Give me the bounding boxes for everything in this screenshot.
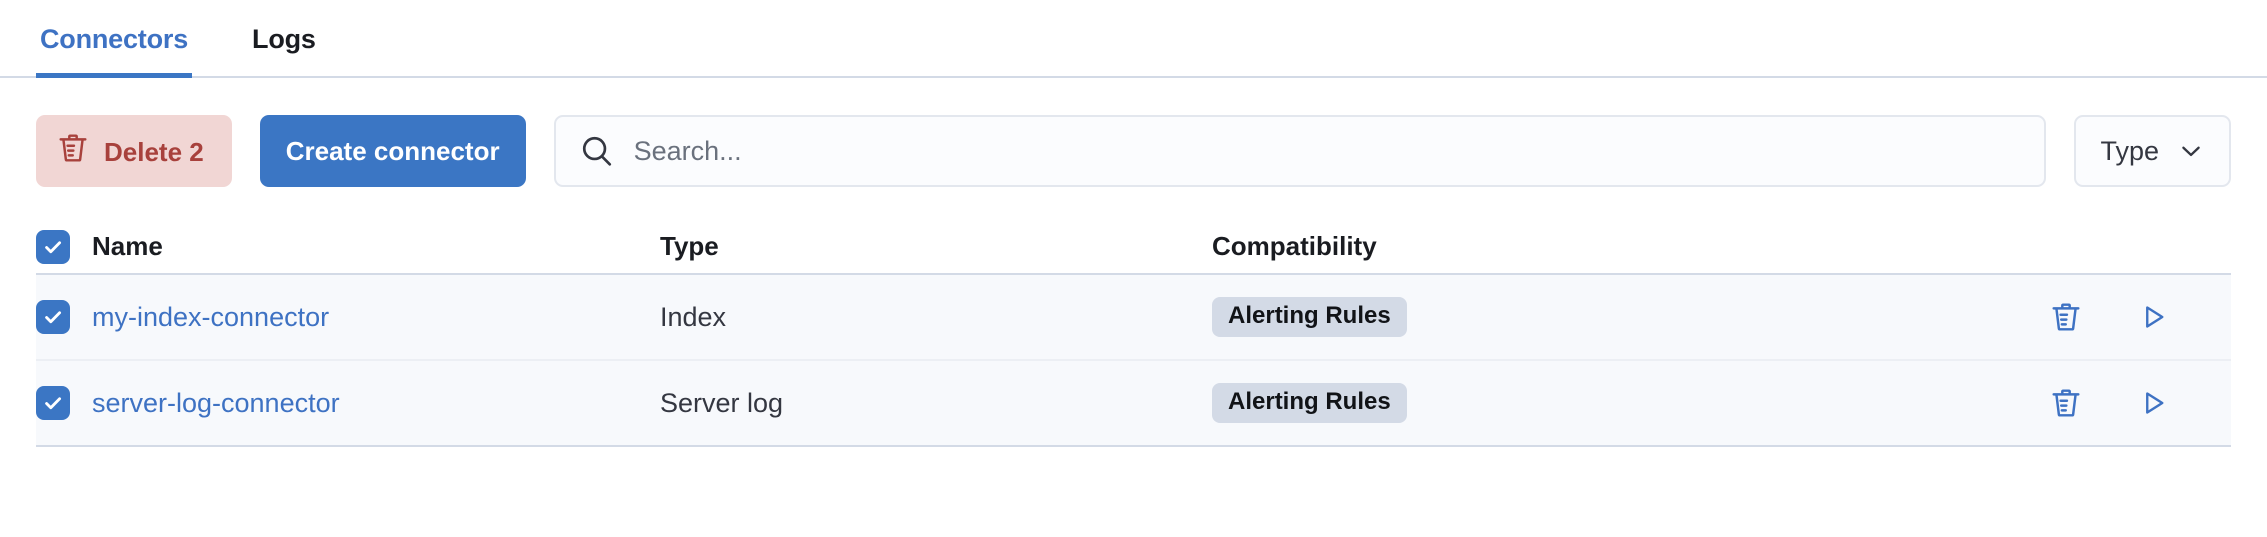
table-header-row: Name Type Compatibility bbox=[36, 220, 2231, 275]
table-row[interactable]: server-log-connector Server log Alerting… bbox=[36, 361, 2231, 447]
tab-connectors[interactable]: Connectors bbox=[36, 0, 192, 78]
table-row[interactable]: my-index-connector Index Alerting Rules bbox=[36, 275, 2231, 361]
type-filter-label: Type bbox=[2100, 136, 2159, 167]
status-badge: Alerting Rules bbox=[1212, 383, 1407, 423]
tab-connectors-label: Connectors bbox=[40, 24, 188, 55]
row-delete-button[interactable] bbox=[2051, 301, 2081, 333]
row-type-cell: Index bbox=[660, 302, 1212, 333]
row-compatibility-cell: Alerting Rules bbox=[1212, 297, 2035, 337]
row-select-cell bbox=[36, 300, 92, 334]
search-icon bbox=[580, 134, 614, 168]
tab-logs-label: Logs bbox=[252, 24, 316, 55]
create-connector-button[interactable]: Create connector bbox=[260, 115, 526, 187]
column-header-type[interactable]: Type bbox=[660, 231, 1212, 262]
tab-logs[interactable]: Logs bbox=[248, 0, 320, 78]
row-name-cell: server-log-connector bbox=[92, 388, 660, 419]
row-name-cell: my-index-connector bbox=[92, 302, 660, 333]
chevron-down-icon bbox=[2177, 137, 2205, 165]
row-actions-cell bbox=[2035, 387, 2231, 419]
row-type-cell: Server log bbox=[660, 388, 1212, 419]
tab-bar: Connectors Logs bbox=[0, 0, 2267, 78]
connectors-table: Name Type Compatibility my-index-connect… bbox=[0, 220, 2267, 447]
type-filter-dropdown[interactable]: Type bbox=[2074, 115, 2231, 187]
delete-button[interactable]: Delete 2 bbox=[36, 115, 232, 187]
row-checkbox[interactable] bbox=[36, 300, 70, 334]
run-icon bbox=[2139, 302, 2169, 332]
trash-icon bbox=[2051, 301, 2081, 333]
connector-name-link[interactable]: my-index-connector bbox=[92, 302, 329, 332]
row-checkbox[interactable] bbox=[36, 386, 70, 420]
select-all-checkbox[interactable] bbox=[36, 230, 70, 264]
trash-icon bbox=[58, 132, 88, 171]
trash-icon bbox=[2051, 387, 2081, 419]
row-actions-cell bbox=[2035, 301, 2231, 333]
status-badge: Alerting Rules bbox=[1212, 297, 1407, 337]
create-connector-label: Create connector bbox=[286, 136, 500, 167]
column-header-compatibility[interactable]: Compatibility bbox=[1212, 231, 2035, 262]
search-input[interactable] bbox=[632, 116, 2021, 186]
row-run-button[interactable] bbox=[2139, 388, 2169, 418]
row-run-button[interactable] bbox=[2139, 302, 2169, 332]
delete-button-label: Delete 2 bbox=[104, 137, 204, 168]
row-compatibility-cell: Alerting Rules bbox=[1212, 383, 2035, 423]
search-box[interactable] bbox=[554, 115, 2047, 187]
row-select-cell bbox=[36, 386, 92, 420]
column-header-name[interactable]: Name bbox=[92, 231, 660, 262]
run-icon bbox=[2139, 388, 2169, 418]
toolbar: Delete 2 Create connector Type bbox=[0, 78, 2267, 187]
select-all-cell bbox=[36, 230, 92, 264]
row-delete-button[interactable] bbox=[2051, 387, 2081, 419]
connector-name-link[interactable]: server-log-connector bbox=[92, 388, 340, 418]
